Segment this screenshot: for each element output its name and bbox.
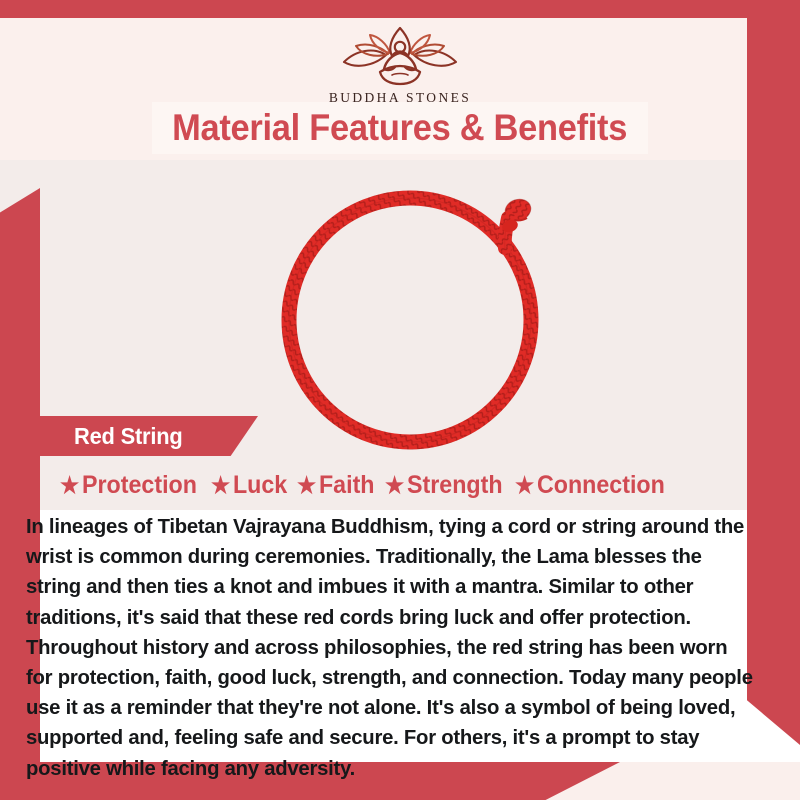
description-paragraph: In lineages of Tibetan Vajrayana Buddhis… — [26, 512, 757, 784]
benefit-item-protection: ★ Protection — [60, 471, 197, 500]
brand-logo: BUDDHA STONES — [0, 22, 800, 106]
benefit-item-connection: ★ Connection — [515, 471, 665, 500]
red-string-ribbon: Red String — [30, 416, 258, 456]
lotus-meditation-icon — [330, 22, 470, 88]
star-icon: ★ — [211, 474, 230, 497]
top-accent-bar — [0, 0, 800, 18]
page-title: Material Features & Benefits — [173, 107, 628, 149]
benefit-item-luck: ★ Luck — [211, 471, 287, 500]
benefit-label: Strength — [407, 471, 503, 500]
star-icon: ★ — [297, 474, 316, 497]
benefit-item-strength: ★ Strength — [385, 471, 503, 500]
ribbon-label: Red String — [74, 423, 183, 450]
headline-plate: Material Features & Benefits — [152, 102, 648, 154]
benefit-label: Faith — [319, 471, 375, 500]
material-features-infographic: BUDDHA STONES Material Features & Benefi… — [0, 0, 800, 800]
star-icon: ★ — [515, 474, 534, 497]
benefit-label: Protection — [82, 471, 197, 500]
benefit-item-faith: ★ Faith — [297, 471, 375, 500]
star-icon: ★ — [385, 474, 404, 497]
star-icon: ★ — [60, 474, 79, 497]
product-image — [258, 168, 598, 468]
benefit-label: Luck — [233, 471, 287, 500]
benefits-row: ★ Protection ★ Luck ★ Faith ★ Strength ★… — [60, 466, 760, 504]
benefit-label: Connection — [537, 471, 665, 500]
